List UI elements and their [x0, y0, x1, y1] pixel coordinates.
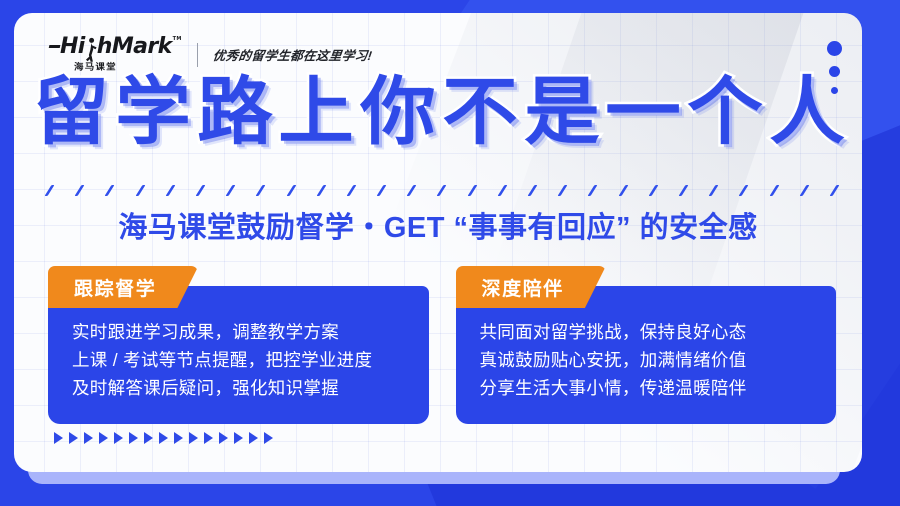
- slash-mark-icon: [769, 185, 779, 196]
- chevron-right-icon: [54, 432, 63, 444]
- logo-dash-icon: [49, 45, 61, 48]
- slash-mark-icon: [679, 185, 689, 196]
- card-title-badge: 深度陪伴: [456, 266, 606, 308]
- page-title: 留 学 路 上 你 不 是 一 个 人: [34, 75, 844, 149]
- dot-decoration: [827, 41, 842, 94]
- slash-mark-icon: [377, 185, 387, 196]
- brand-tagline: 优秀的留学生都在这里学习!: [211, 45, 373, 64]
- chevron-right-icon: [264, 432, 273, 444]
- chevron-right-icon: [219, 432, 228, 444]
- chevron-right-icon: [99, 432, 108, 444]
- slash-mark-icon: [346, 185, 356, 196]
- feature-card-companionship: 深度陪伴 共同面对留学挑战，保持良好心态 真诚鼓励贴心安抚，加满情绪价值 分享生…: [456, 266, 837, 424]
- chevron-right-icon: [204, 432, 213, 444]
- slash-divider: [48, 183, 836, 197]
- slash-mark-icon: [165, 185, 175, 196]
- slash-mark-icon: [437, 185, 447, 196]
- headline-char: 留: [33, 75, 108, 149]
- headline-char: 上: [279, 75, 354, 149]
- chevron-right-icon: [144, 432, 153, 444]
- chevron-right-icon: [69, 432, 78, 444]
- card-title-badge: 跟踪督学: [48, 266, 198, 308]
- headline-char: 你: [360, 75, 435, 149]
- chevron-right-icon: [234, 432, 243, 444]
- decorative-dot-small: [831, 87, 838, 94]
- headline-char: 个: [687, 75, 762, 149]
- headline-char: 不: [442, 75, 517, 149]
- content-panel: Hi hMark TM 海马课堂: [14, 13, 862, 472]
- card-bullet-list: 共同面对留学挑战，保持良好心态 真诚鼓励贴心安抚，加满情绪价值 分享生活大事小情…: [456, 318, 837, 403]
- card-bullet: 真诚鼓励贴心安抚，加满情绪价值: [480, 346, 813, 374]
- slash-mark-icon: [45, 185, 55, 196]
- feature-cards: 跟踪督学 实时跟进学习成果，调整教学方案 上课 / 考试等节点提醒，把控学业进度…: [48, 266, 836, 424]
- chevron-right-icon: [114, 432, 123, 444]
- slash-mark-icon: [135, 185, 145, 196]
- card-bullet: 实时跟进学习成果，调整教学方案: [72, 318, 405, 346]
- card-bullet: 共同面对留学挑战，保持良好心态: [480, 318, 813, 346]
- slash-mark-icon: [709, 185, 719, 196]
- slash-mark-icon: [467, 185, 477, 196]
- arrow-decoration-strip: [54, 432, 273, 444]
- slash-mark-icon: [286, 185, 296, 196]
- logo-wordmark: Hi hMark TM: [48, 36, 182, 58]
- card-bullet: 及时解答课后疑问，强化知识掌握: [72, 374, 405, 402]
- slash-mark-icon: [497, 185, 507, 196]
- decorative-dot-medium: [829, 66, 840, 77]
- logo-wordmark-tail: hMark: [97, 36, 172, 58]
- highmark-logo[interactable]: Hi hMark TM 海马课堂: [48, 36, 182, 73]
- slash-mark-icon: [528, 185, 538, 196]
- feature-card-tracking: 跟踪督学 实时跟进学习成果，调整教学方案 上课 / 考试等节点提醒，把控学业进度…: [48, 266, 429, 424]
- brand-header: Hi hMark TM 海马课堂: [48, 36, 372, 73]
- chevron-right-icon: [129, 432, 138, 444]
- banner-stage: Hi hMark TM 海马课堂: [0, 0, 900, 506]
- logo-wordmark-lead: Hi: [60, 36, 85, 58]
- card-bullet: 上课 / 考试等节点提醒，把控学业进度: [72, 346, 405, 374]
- slash-mark-icon: [558, 185, 568, 196]
- headline-char: 学: [115, 75, 190, 149]
- slash-mark-icon: [316, 185, 326, 196]
- page-subtitle: 海马课堂鼓励督学・GET “事事有回应” 的安全感: [14, 211, 862, 246]
- slash-mark-icon: [739, 185, 749, 196]
- chevron-right-icon: [159, 432, 168, 444]
- chevron-right-icon: [174, 432, 183, 444]
- slash-mark-icon: [75, 185, 85, 196]
- chevron-right-icon: [84, 432, 93, 444]
- slash-mark-icon: [105, 185, 115, 196]
- card-bullet: 分享生活大事小情，传递温暖陪伴: [480, 374, 813, 402]
- slash-mark-icon: [829, 185, 839, 196]
- headline-char: 一: [606, 75, 681, 149]
- slash-mark-icon: [256, 185, 266, 196]
- chevron-right-icon: [249, 432, 258, 444]
- slash-mark-icon: [226, 185, 236, 196]
- slash-mark-icon: [648, 185, 658, 196]
- slash-mark-icon: [196, 185, 206, 196]
- slash-mark-icon: [588, 185, 598, 196]
- header-divider: [197, 43, 198, 67]
- slash-mark-icon: [618, 185, 628, 196]
- chevron-right-icon: [189, 432, 198, 444]
- headline-char: 路: [197, 75, 272, 149]
- card-bullet-list: 实时跟进学习成果，调整教学方案 上课 / 考试等节点提醒，把控学业进度 及时解答…: [48, 318, 429, 403]
- decorative-dot-large: [827, 41, 842, 56]
- headline-char: 是: [524, 75, 599, 149]
- trademark-symbol: TM: [173, 36, 182, 42]
- slash-mark-icon: [407, 185, 417, 196]
- slash-mark-icon: [799, 185, 809, 196]
